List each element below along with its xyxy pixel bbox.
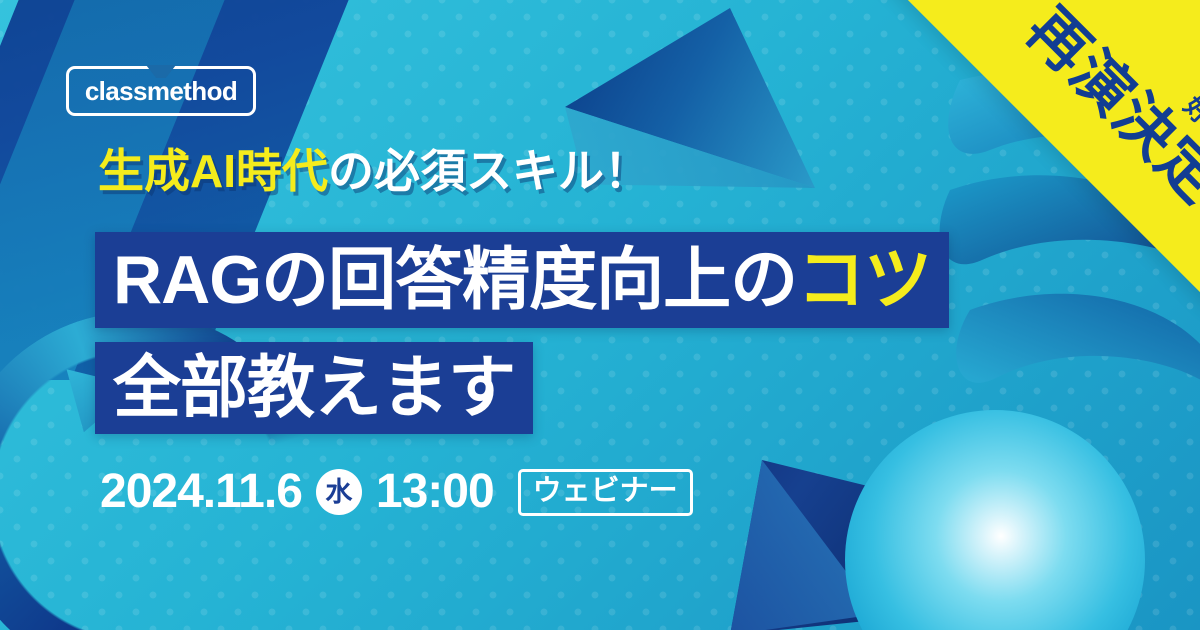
ring-arc-decoration (0, 283, 349, 630)
title-line-2: 全部教えます (113, 354, 515, 422)
subtitle-highlight-text: 生成AI時代 (98, 145, 328, 197)
corner-ribbon-big-text: 再演決定！ (904, 0, 1200, 256)
subtitle: 生成AI時代の必須スキル！ (98, 148, 650, 194)
title-line-1-white-text: RAGの回答精度向上の (113, 242, 797, 318)
polygon-shard-bottom-right-light (690, 460, 890, 630)
weekday-badge: 水 (316, 469, 362, 515)
subtitle-rest-text: の必須スキル！ (328, 145, 650, 197)
schedule-row: 2024.11.6 水 13:00 ウェビナー (100, 468, 693, 516)
title-band-line-2: 全部教えます (95, 342, 533, 434)
event-date: 2024.11.6 (100, 468, 302, 516)
event-time: 13:00 (376, 468, 494, 516)
classmethod-logo[interactable]: classmethod (66, 66, 256, 116)
glowing-sphere-decoration (845, 410, 1145, 630)
webinar-banner: 好評につき 再演決定！ classmethod 生成AI時代の必須スキル！ RA… (0, 0, 1200, 630)
format-badge: ウェビナー (518, 469, 693, 516)
logo-text: classmethod (85, 78, 237, 104)
title-band-line-1: RAGの回答精度向上のコツ (95, 232, 949, 328)
title-line-1-highlight-text: コツ (797, 242, 931, 318)
polygon-shard-bottom-right (690, 460, 890, 630)
corner-ribbon-text-group: 好評につき 再演決定！ (904, 0, 1200, 256)
title-line-1: RAGの回答精度向上のコツ (113, 246, 931, 314)
